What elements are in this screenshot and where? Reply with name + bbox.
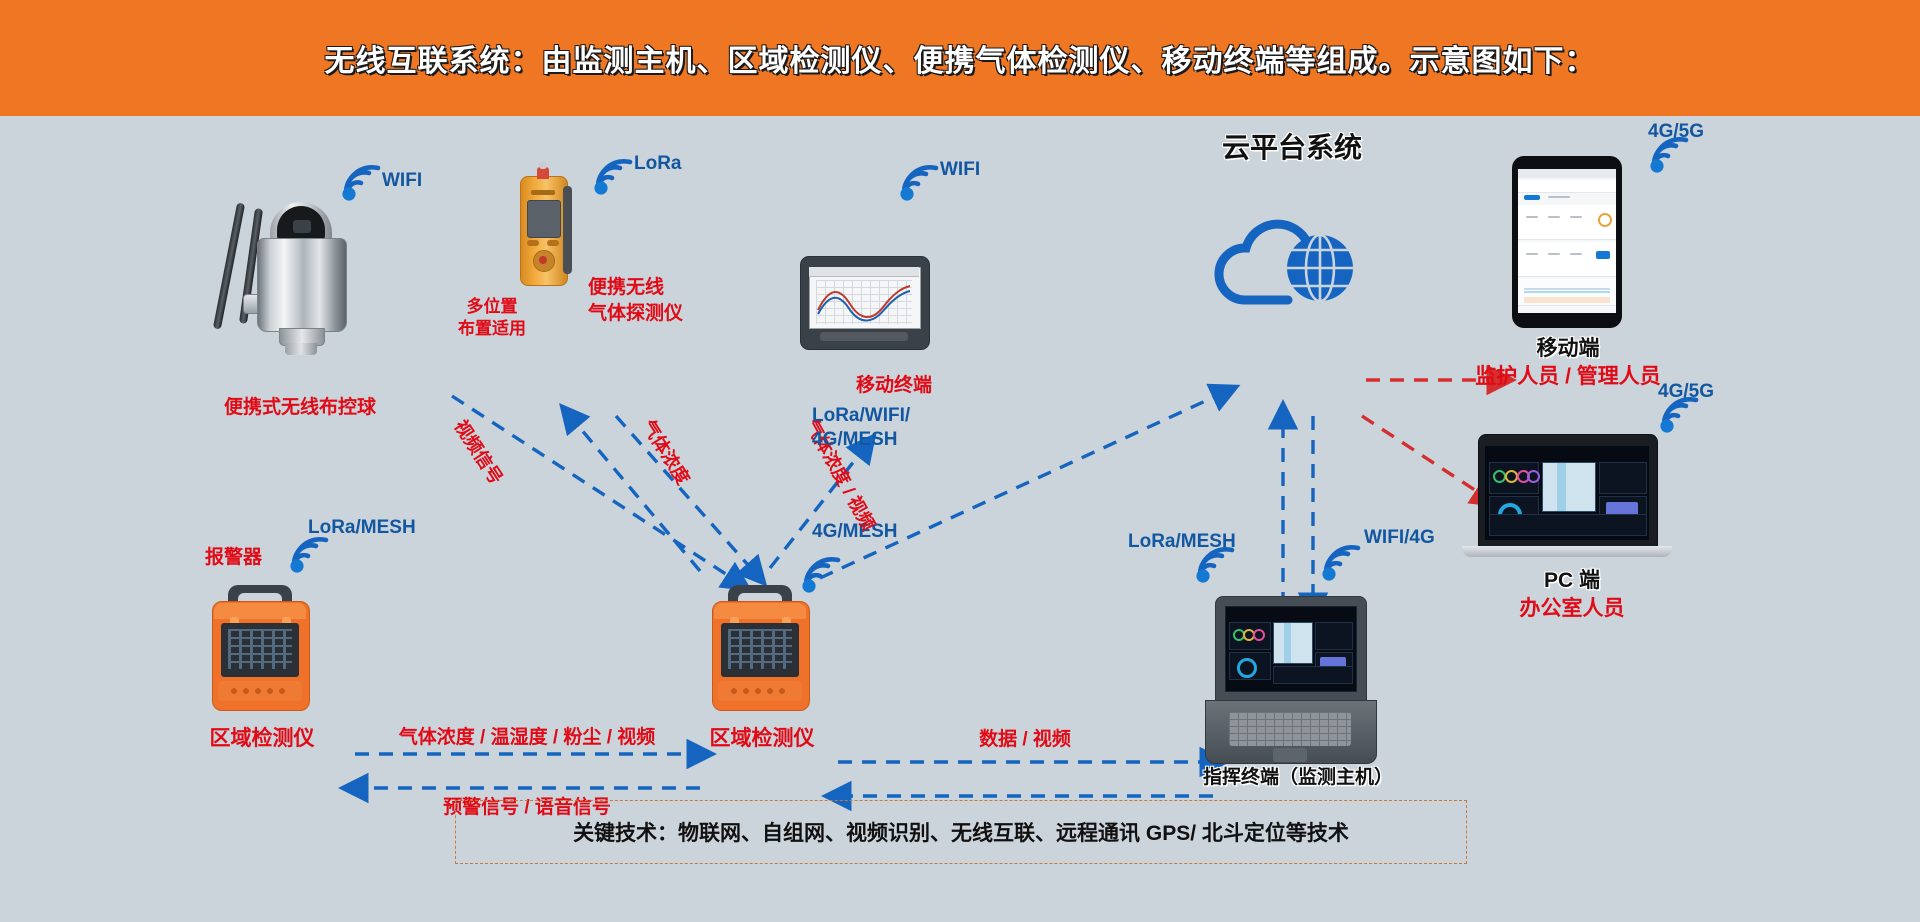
phone-card-1-metric-b (1548, 216, 1560, 218)
edge-label-uplink-line2: 4G/MESH (812, 428, 898, 452)
label-camera-ball: 便携式无线布控球 (224, 396, 376, 420)
gas-detector-dpad-center (539, 256, 547, 264)
center-detector-ports (728, 687, 790, 695)
tablet-bottom-bar (820, 332, 908, 341)
gas-detector-sensor-tip (539, 162, 547, 169)
camera-body (257, 238, 347, 332)
wifi-icon-camera-ball (340, 164, 382, 200)
node-handheld-gas-detector[interactable] (520, 176, 580, 296)
wifi-icon-tablet (898, 164, 940, 200)
center-detector-top (714, 603, 806, 619)
signal-label-command-terminal-right: WIFI/4G (1364, 526, 1435, 550)
node-command-terminal[interactable] (1215, 596, 1385, 766)
label-area-detector-left: 区域检测仪 (210, 726, 315, 752)
pc-widget-map (1542, 462, 1596, 512)
signal-label-camera-ball: WIFI (382, 169, 422, 193)
phone-card-2-metric-c (1570, 253, 1582, 255)
phone-status-bar (1518, 169, 1616, 178)
camera-base (285, 343, 317, 355)
signal-label-phone: 4G/5G (1648, 120, 1704, 144)
label-alarm: 报警器 (205, 546, 262, 570)
wifi-icon-command-terminal-right (1320, 544, 1362, 580)
tablet-trend-curve (816, 280, 912, 324)
label-pc: PC 端 (1544, 568, 1600, 594)
tablet-status-bar (809, 267, 919, 277)
label-handheld-gas-line2: 气体探测仪 (588, 302, 683, 326)
phone-card-2 (1518, 242, 1616, 277)
signal-label-alarm: LoRa/MESH (308, 516, 416, 540)
left-detector-top (214, 603, 306, 619)
label-command-terminal: 指挥终端（监测主机） (1203, 766, 1393, 790)
command-terminal-keyboard[interactable] (1229, 712, 1351, 746)
node-area-detector-left[interactable] (212, 601, 308, 709)
command-terminal-touchpad[interactable] (1273, 748, 1307, 762)
ct-donut (1237, 658, 1257, 678)
node-mobile-tablet[interactable] (800, 256, 928, 348)
label-handheld-gas-line1: 便携无线 (588, 276, 664, 300)
wifi-icon-alarm (288, 536, 330, 572)
phone-chart (1524, 285, 1610, 303)
node-cloud-platform[interactable] (1218, 206, 1368, 316)
phone-card-1-metric-a (1526, 216, 1538, 218)
edge-label-center-to-terminal: 数据 / 视频 (979, 728, 1071, 752)
left-detector-ports (228, 687, 290, 695)
gas-detector-grill (531, 190, 555, 195)
pc-widget-list (1599, 462, 1647, 494)
label-cloud-platform: 云平台系统 (1222, 130, 1362, 165)
key-technology-box: 关键技术：物联网、自组网、视频识别、无线互联、远程通讯 GPS/ 北斗定位等技术 (455, 800, 1467, 864)
signal-label-handheld-gas: LoRa (634, 152, 682, 176)
pc-base (1462, 546, 1672, 557)
ct-gauge-pink (1253, 629, 1265, 641)
phone-card-1-status (1598, 213, 1612, 227)
gas-detector-screen (527, 200, 561, 238)
pc-gauge-purple (1527, 470, 1540, 483)
center-detector-readout (728, 629, 792, 669)
phone-app-header (1518, 180, 1616, 193)
node-camera-ball[interactable] (215, 176, 405, 366)
pc-widget-table (1489, 514, 1647, 536)
key-technology-text: 关键技术：物联网、自组网、视频识别、无线互联、远程通讯 GPS/ 北斗定位等技术 (573, 817, 1349, 847)
note-handheld-gas-line1: 多位置 (467, 296, 518, 317)
diagram-canvas: WIFI 便携式无线布控球 LoRa 多位置 布置适用 便携无线 气体探测仪 (0, 116, 1920, 922)
signal-label-pc: 4G/5G (1658, 380, 1714, 404)
ct-widget-list (1315, 622, 1353, 650)
phone-card-2-metric-b (1548, 253, 1560, 255)
ct-widget-table (1273, 666, 1353, 684)
edge-label-gas-concentration: 气体浓度 (637, 416, 694, 489)
signal-label-command-terminal-left: LoRa/MESH (1128, 530, 1236, 554)
ct-widget-map (1273, 622, 1313, 664)
sublabel-pc: 办公室人员 (1520, 596, 1625, 622)
gas-detector-button-left (527, 240, 539, 246)
label-phone: 移动端 (1537, 336, 1600, 362)
edge-label-video-signal: 视频信号 (449, 416, 507, 489)
phone-card-1-metric-c (1570, 216, 1582, 218)
cloud-globe-icon (1218, 206, 1368, 316)
edge-label-left-to-center: 气体浓度 / 温湿度 / 粉尘 / 视频 (399, 726, 656, 750)
node-mobile-phone[interactable] (1512, 156, 1622, 328)
node-area-detector-center[interactable] (712, 601, 808, 709)
phone-tab-inactive (1548, 196, 1570, 198)
gas-detector-strap (563, 186, 572, 274)
node-pc-laptop[interactable] (1478, 434, 1688, 558)
phone-tab-active (1524, 195, 1540, 200)
phone-card-2-metric-a (1526, 253, 1538, 255)
camera-lens-inner (293, 220, 311, 233)
edge-label-uplink-line1: LoRa/WIFI/ (812, 404, 910, 428)
sublabel-phone: 监护人员 / 管理人员 (1475, 364, 1661, 390)
label-mobile-tablet: 移动终端 (856, 374, 932, 398)
signal-label-tablet: WIFI (940, 158, 980, 182)
note-handheld-gas-line2: 布置适用 (458, 318, 526, 339)
page-header: 无线互联系统：由监测主机、区域检测仪、便携气体检测仪、移动终端等组成。示意图如下… (0, 0, 1920, 116)
wifi-icon-handheld-gas (592, 158, 634, 194)
left-detector-readout (228, 629, 292, 669)
wifi-icon-area-detector-center (800, 556, 842, 592)
page-title: 无线互联系统：由监测主机、区域检测仪、便携气体检测仪、移动终端等组成。示意图如下… (325, 36, 1596, 80)
label-area-detector-center: 区域检测仪 (710, 726, 815, 752)
phone-card-2-status (1596, 251, 1610, 259)
gas-detector-button-right (547, 240, 559, 246)
